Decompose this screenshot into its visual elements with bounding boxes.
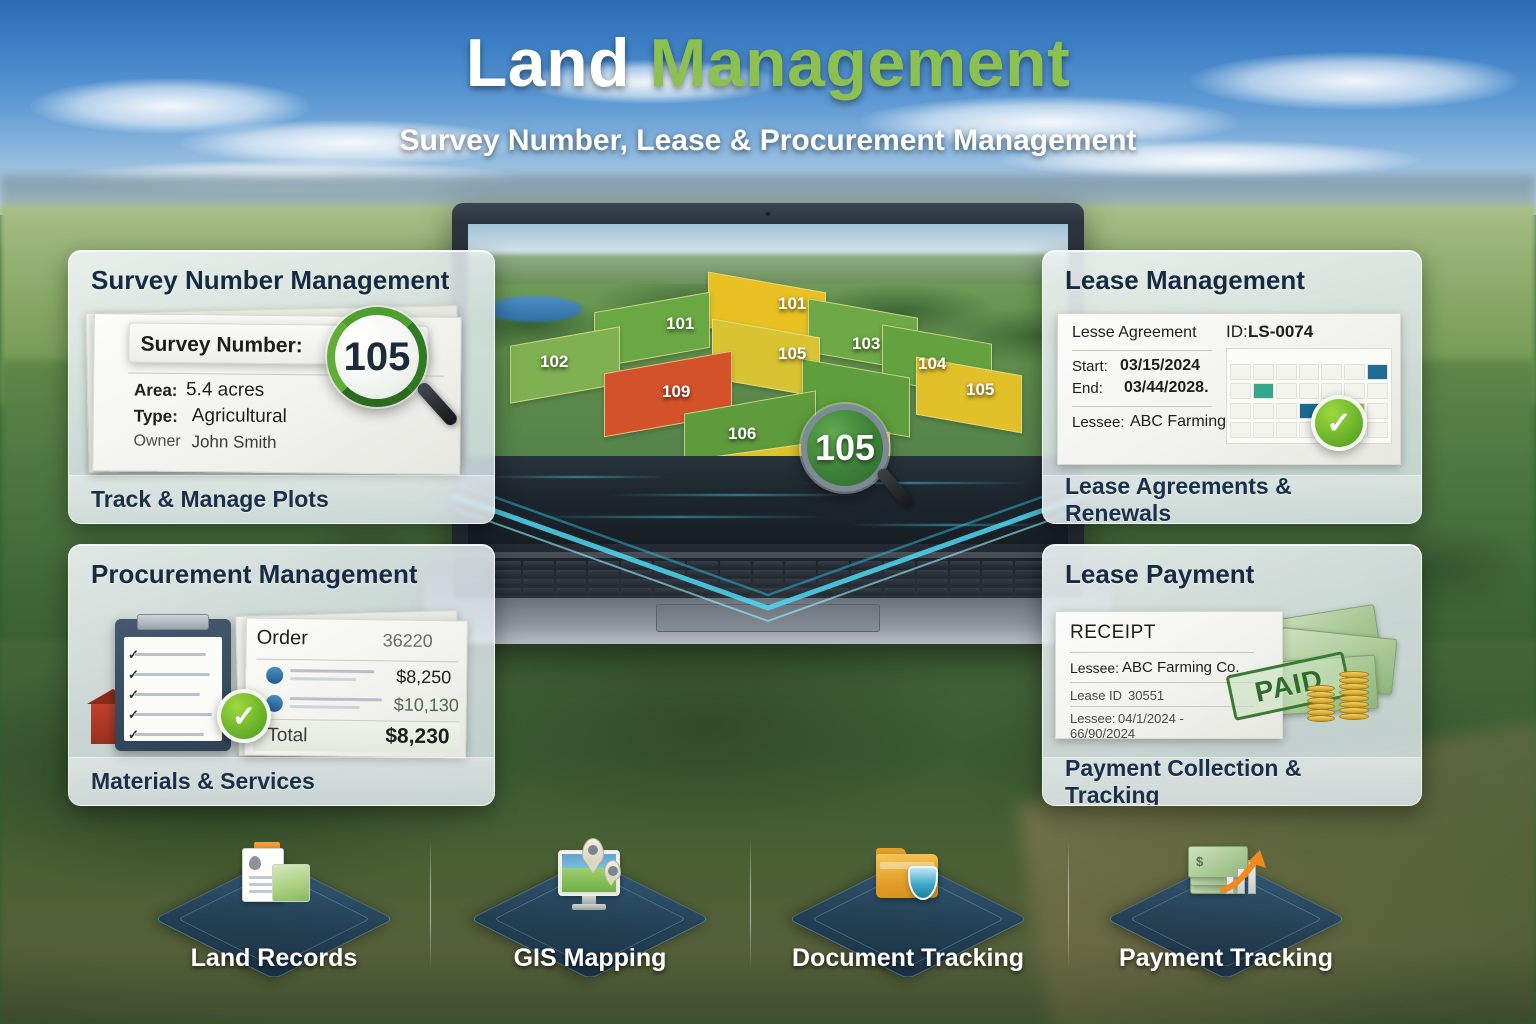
parcel-label: 105 — [778, 344, 806, 364]
total-value: $8,230 — [385, 724, 450, 749]
lease-calendar[interactable] — [1226, 348, 1392, 444]
order-label: Order — [257, 627, 308, 651]
page-title-part1: Land — [466, 25, 630, 101]
magnifier-lens: 105 — [327, 307, 427, 407]
receipt-lessee-label: Lessee: — [1070, 660, 1119, 676]
parcel-label: 106 — [728, 424, 756, 444]
divider — [1072, 350, 1212, 351]
coin-stack — [1307, 685, 1335, 727]
feature-label: Land Records — [108, 944, 440, 973]
line-item-icon — [266, 667, 283, 684]
lease-id-label: Lease ID — [1070, 688, 1122, 703]
order-number: 36220 — [383, 630, 433, 652]
card-title: Survey Number Management — [69, 265, 494, 296]
card-lease-payment[interactable]: Lease Payment RECEIPT Lessee: ABC Farmin… — [1042, 544, 1422, 806]
parcel-label: 101 — [666, 314, 694, 334]
feature-payment-tracking[interactable]: $ Payment Tracking — [1060, 826, 1392, 1024]
magnified-survey-number: 105 — [815, 427, 875, 469]
divider — [1070, 652, 1254, 653]
feature-document-tracking[interactable]: Document Tracking — [742, 826, 1074, 1024]
lease-id-value: 30551 — [1128, 688, 1164, 703]
purchase-order-document: Order 36220 $8,250 $10,130 Total $8,230 — [244, 617, 468, 758]
line-item-amount: $8,250 — [396, 667, 451, 689]
feature-land-records[interactable]: Land Records — [108, 826, 440, 1024]
type-label: Type: — [134, 407, 178, 427]
check-icon: ✓ — [1311, 395, 1367, 451]
document-map-icon — [232, 840, 316, 918]
monitor-map-pin-icon — [548, 840, 632, 918]
data-stream — [848, 524, 1048, 526]
card-title: Procurement Management — [69, 559, 494, 590]
lease-id-label: ID: — [1226, 322, 1248, 342]
card-footer: Track & Manage Plots — [69, 475, 494, 523]
laptop-lid: 101 101 102 103 104 105 105 106 109 110 … — [452, 203, 1084, 558]
feature-icon-row: Land Records GIS Mapping Document Tracki… — [0, 826, 1536, 1024]
clipboard-page: ✓ ✓ ✓ ✓ ✓ — [124, 637, 222, 741]
page-subtitle: Survey Number, Lease & Procurement Manag… — [0, 124, 1536, 158]
clipboard-clamp — [137, 614, 209, 630]
lease-end-value: 03/44/2028. — [1124, 379, 1209, 397]
webcam-icon — [765, 211, 771, 217]
clipboard-icon: ✓ ✓ ✓ ✓ ✓ — [115, 619, 231, 751]
card-body: ✓ ✓ ✓ ✓ ✓ Order 36220 $8,250 $10,130 Tot… — [69, 597, 494, 757]
page-title: Land Management — [0, 24, 1536, 102]
type-value: Agricultural — [192, 405, 287, 428]
page-title-part2: Management — [650, 25, 1071, 101]
lease-start-label: Start: — [1072, 358, 1108, 375]
laptop-base — [424, 552, 1112, 644]
parcel-label: 102 — [540, 352, 568, 372]
survey-magnifier[interactable]: 105 — [327, 307, 439, 419]
feature-label: Payment Tracking — [1060, 944, 1392, 973]
laptop-screen: 101 101 102 103 104 105 105 106 109 110 … — [468, 224, 1068, 544]
feature-gis-mapping[interactable]: GIS Mapping — [424, 826, 756, 1024]
line-item-amount: $10,130 — [394, 695, 459, 717]
card-title: Lease Management — [1043, 265, 1421, 296]
card-title: Lease Payment — [1043, 559, 1421, 590]
lease-doc-title: Lesse Agreement — [1072, 324, 1197, 342]
parcel-label: 101 — [778, 294, 806, 314]
header: Land Management Survey Number, Lease & P… — [0, 0, 1536, 185]
card-body: Lesse Agreement ID: LS-0074 Start: 03/15… — [1043, 303, 1421, 475]
screen-data-zone — [468, 456, 1068, 544]
divider — [1072, 406, 1212, 407]
divider — [256, 659, 458, 663]
money-chart-arrow-icon: $ — [1184, 840, 1268, 918]
lease-id-value: LS-0074 — [1248, 322, 1313, 342]
laptop-keyboard[interactable] — [454, 558, 1082, 598]
card-body: RECEIPT Lessee: ABC Farming Co. Lease ID… — [1043, 597, 1421, 757]
check-icon: ✓ — [217, 689, 271, 743]
card-footer: Materials & Services — [69, 757, 494, 805]
data-stream — [488, 476, 668, 478]
card-footer: Lease Agreements & Renewals — [1043, 475, 1421, 523]
receipt-title: RECEIPT — [1070, 622, 1156, 644]
card-procurement-management[interactable]: Procurement Management ✓ ✓ ✓ ✓ ✓ Order 3… — [68, 544, 495, 806]
parcel-label: 103 — [852, 334, 880, 354]
area-label: Area: — [134, 381, 178, 401]
card-footer: Payment Collection & Tracking — [1043, 757, 1421, 805]
lease-start-value: 03/15/2024 — [1120, 357, 1200, 375]
feature-label: GIS Mapping — [424, 944, 756, 973]
laptop-trackpad[interactable] — [656, 604, 880, 632]
folder-shield-icon — [866, 840, 950, 918]
card-survey-number-management[interactable]: Survey Number Management Survey Number: … — [68, 250, 495, 524]
parcel-label: 105 — [966, 380, 994, 400]
map-magnifier[interactable]: 105 — [801, 404, 901, 504]
owner-value: John Smith — [191, 432, 276, 453]
lessee-label: Lessee: — [1072, 414, 1125, 431]
feature-label: Document Tracking — [742, 944, 1074, 973]
magnifier-lens: 105 — [801, 404, 889, 492]
parcel-label: 104 — [918, 354, 946, 374]
period-label: Lessee: — [1070, 711, 1116, 726]
magnified-survey-number: 105 — [344, 335, 411, 380]
coin-stack — [1339, 671, 1369, 725]
divider — [1070, 706, 1254, 707]
owner-label: Owner — [133, 433, 180, 451]
data-stream — [528, 516, 828, 518]
period-start: 04/1/2024 - — [1118, 711, 1184, 726]
parcel-label: 109 — [662, 382, 690, 402]
area-value: 5.4 acres — [186, 379, 264, 402]
survey-number-label: Survey Number: — [140, 333, 302, 359]
receipt-lessee-value: ABC Farming Co. — [1122, 659, 1240, 676]
total-label: Total — [267, 725, 307, 748]
laptop-illustration: 101 101 102 103 104 105 105 106 109 110 … — [452, 203, 1084, 673]
period-end: 66/90/2024 — [1070, 726, 1135, 741]
card-lease-management[interactable]: Lease Management Lesse Agreement ID: LS-… — [1042, 250, 1422, 524]
lease-end-label: End: — [1072, 380, 1103, 397]
card-body: Survey Number: Area: 5.4 acres Type: Agr… — [69, 303, 494, 475]
